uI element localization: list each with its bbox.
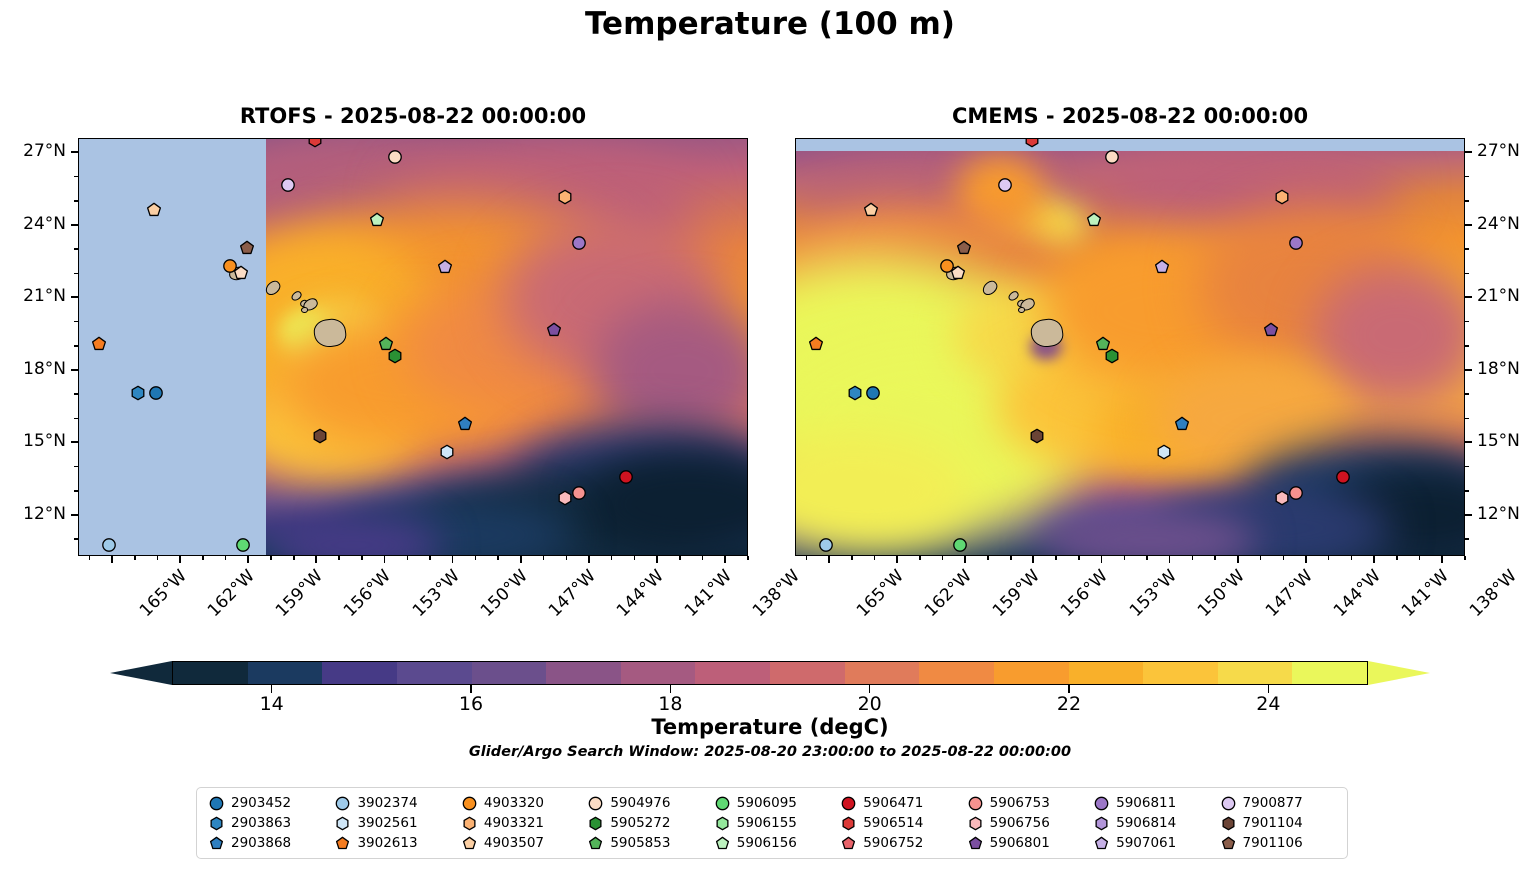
legend-item[interactable]: 5906811 bbox=[1088, 795, 1214, 811]
legend-item-label: 3902374 bbox=[357, 795, 417, 811]
y-tick-minor bbox=[74, 466, 78, 468]
float-marker[interactable] bbox=[387, 150, 402, 165]
y-tick bbox=[71, 224, 78, 226]
y-tick bbox=[1465, 514, 1472, 516]
colorbar-band bbox=[397, 662, 472, 684]
legend-marker-icon bbox=[1094, 836, 1109, 851]
x-tick-minor bbox=[475, 556, 477, 560]
legend-item-label: 5907061 bbox=[1116, 835, 1176, 851]
legend-item-label: 4903321 bbox=[484, 815, 544, 831]
colorbar-tick-label: 20 bbox=[840, 693, 900, 715]
x-axis-label: 147°W bbox=[1262, 566, 1317, 621]
x-tick-minor bbox=[293, 556, 295, 560]
float-marker[interactable] bbox=[997, 177, 1012, 192]
legend-item[interactable]: 2903452 bbox=[203, 795, 329, 811]
temperature-field-cmems bbox=[796, 139, 1464, 555]
x-tick-minor bbox=[1124, 556, 1126, 560]
y-tick-minor bbox=[74, 393, 78, 395]
legend-marker-icon bbox=[335, 816, 350, 831]
x-tick bbox=[1032, 556, 1034, 563]
x-tick-minor bbox=[874, 556, 876, 560]
x-tick bbox=[896, 556, 898, 563]
x-axis-label: 150°W bbox=[477, 566, 532, 621]
island-kahoolawe bbox=[1018, 307, 1025, 313]
legend-marker-icon bbox=[588, 836, 603, 851]
x-axis-label: 138°W bbox=[1466, 566, 1521, 621]
colorbar-band bbox=[994, 662, 1069, 684]
x-tick-minor bbox=[919, 556, 921, 560]
float-marker[interactable] bbox=[1104, 150, 1119, 165]
float-marker[interactable] bbox=[950, 265, 966, 281]
legend-marker-icon bbox=[968, 796, 983, 811]
legend-marker-icon bbox=[841, 836, 856, 851]
legend-item[interactable]: 5906471 bbox=[835, 795, 961, 811]
x-tick-minor bbox=[429, 556, 431, 560]
legend-item[interactable]: 5906752 bbox=[835, 835, 961, 851]
legend-marker-icon bbox=[335, 796, 350, 811]
y-tick-minor bbox=[1465, 345, 1469, 347]
x-tick-minor bbox=[611, 556, 613, 560]
x-tick-minor bbox=[225, 556, 227, 560]
x-tick-minor bbox=[566, 556, 568, 560]
float-marker[interactable] bbox=[1174, 416, 1190, 432]
x-tick bbox=[964, 556, 966, 563]
legend-grid: 2903452390237449033205904976590609559064… bbox=[203, 793, 1341, 853]
y-axis-label: 27°N bbox=[4, 141, 66, 161]
y-axis-label: 15°N bbox=[4, 431, 66, 451]
x-tick bbox=[1305, 556, 1307, 563]
legend-item-label: 2903863 bbox=[231, 815, 291, 831]
legend-item-label: 4903507 bbox=[484, 835, 544, 851]
y-tick bbox=[1465, 441, 1472, 443]
x-tick-minor bbox=[89, 556, 91, 560]
y-tick-minor bbox=[1465, 466, 1469, 468]
colorbar-band bbox=[173, 662, 248, 684]
legend-item[interactable]: 5907061 bbox=[1088, 835, 1214, 851]
x-axis-label: 162°W bbox=[204, 566, 259, 621]
legend-item-label: 5906811 bbox=[1116, 795, 1176, 811]
colorbar-tick-label: 18 bbox=[640, 693, 700, 715]
x-tick-minor bbox=[543, 556, 545, 560]
legend-item[interactable]: 5905853 bbox=[582, 835, 708, 851]
float-marker[interactable] bbox=[280, 177, 295, 192]
float-marker[interactable] bbox=[130, 385, 146, 401]
x-tick-minor bbox=[1078, 556, 1080, 560]
x-axis-label: 159°W bbox=[272, 566, 327, 621]
legend-item[interactable]: 5906801 bbox=[962, 835, 1088, 851]
y-tick bbox=[1465, 224, 1472, 226]
float-marker[interactable] bbox=[437, 259, 453, 275]
float-marker[interactable] bbox=[1288, 235, 1303, 250]
map-panel-cmems[interactable] bbox=[795, 138, 1465, 556]
legend-item-label: 5904976 bbox=[610, 795, 670, 811]
legend-marker-icon bbox=[715, 836, 730, 851]
float-marker[interactable] bbox=[91, 336, 107, 352]
panel-title-cmems: CMEMS - 2025-08-22 00:00:00 bbox=[795, 104, 1465, 128]
float-marker[interactable] bbox=[101, 537, 116, 552]
legend-item-label: 4903320 bbox=[484, 795, 544, 811]
x-axis-label: 159°W bbox=[989, 566, 1044, 621]
no-data-mask-cmems bbox=[796, 139, 1465, 151]
x-tick bbox=[1441, 556, 1443, 563]
float-marker[interactable] bbox=[1154, 259, 1170, 275]
legend-item[interactable]: 5906814 bbox=[1088, 815, 1214, 831]
float-marker[interactable] bbox=[146, 202, 162, 218]
legend-item-label: 5906814 bbox=[1116, 815, 1176, 831]
x-tick-minor bbox=[1146, 556, 1148, 560]
y-axis-label: 21°N bbox=[1477, 286, 1539, 306]
x-tick bbox=[1373, 556, 1375, 563]
legend-marker-icon bbox=[1221, 816, 1236, 831]
colorbar-tick bbox=[869, 685, 871, 693]
legend-marker-icon bbox=[841, 796, 856, 811]
x-tick-minor bbox=[1214, 556, 1216, 560]
page-title: Temperature (100 m) bbox=[0, 6, 1540, 42]
colorbar-tick-label: 22 bbox=[1039, 693, 1099, 715]
x-tick-minor bbox=[1328, 556, 1330, 560]
x-axis-label: 153°W bbox=[1126, 566, 1181, 621]
x-tick-minor bbox=[134, 556, 136, 560]
legend-item-label: 5906156 bbox=[737, 835, 797, 851]
float-marker[interactable] bbox=[1104, 348, 1120, 364]
y-tick-minor bbox=[1465, 248, 1469, 250]
legend-marker-icon bbox=[968, 836, 983, 851]
float-marker[interactable] bbox=[307, 138, 323, 148]
x-tick-minor bbox=[1396, 556, 1398, 560]
colorbar-band bbox=[1218, 662, 1293, 684]
x-tick-minor bbox=[942, 556, 944, 560]
legend-item[interactable]: 4903507 bbox=[456, 835, 582, 851]
x-axis-label: 147°W bbox=[545, 566, 600, 621]
legend-item-label: 5906155 bbox=[737, 815, 797, 831]
legend-marker-icon bbox=[715, 816, 730, 831]
float-marker[interactable] bbox=[571, 235, 586, 250]
legend-item-label: 3902613 bbox=[357, 835, 417, 851]
float-marker[interactable] bbox=[571, 485, 586, 500]
y-axis-label: 18°N bbox=[4, 359, 66, 379]
x-tick-minor bbox=[1419, 556, 1421, 560]
float-marker[interactable] bbox=[952, 537, 967, 552]
x-tick-minor bbox=[747, 556, 749, 560]
x-tick-minor bbox=[497, 556, 499, 560]
colorbar-gradient bbox=[172, 661, 1368, 685]
colorbar-label: Temperature (degC) bbox=[0, 715, 1540, 739]
x-tick bbox=[1101, 556, 1103, 563]
y-tick-minor bbox=[74, 321, 78, 323]
y-axis-label: 21°N bbox=[4, 286, 66, 306]
x-tick-minor bbox=[702, 556, 704, 560]
legend-item-label: 2903868 bbox=[231, 835, 291, 851]
y-tick-minor bbox=[74, 176, 78, 178]
x-tick bbox=[384, 556, 386, 563]
legend-item[interactable]: 5906155 bbox=[709, 815, 835, 831]
legend-item[interactable]: 5904976 bbox=[582, 795, 708, 811]
float-marker[interactable] bbox=[546, 322, 562, 338]
legend-item-label: 5906514 bbox=[863, 815, 923, 831]
float-legend: 2903452390237449033205904976590609559064… bbox=[196, 787, 1348, 859]
x-axis-label: 156°W bbox=[340, 566, 395, 621]
legend-item[interactable]: 7901106 bbox=[1215, 835, 1341, 851]
float-marker[interactable] bbox=[863, 202, 879, 218]
y-tick-minor bbox=[1465, 490, 1469, 492]
float-marker[interactable] bbox=[457, 416, 473, 432]
x-tick-minor bbox=[361, 556, 363, 560]
y-tick-minor bbox=[1465, 176, 1469, 178]
x-tick bbox=[828, 556, 830, 563]
legend-marker-icon bbox=[209, 816, 224, 831]
float-marker[interactable] bbox=[1274, 189, 1290, 205]
x-tick-minor bbox=[1464, 556, 1466, 560]
legend-marker-icon bbox=[1094, 796, 1109, 811]
colorbar: 141618202224 bbox=[110, 659, 1430, 687]
float-marker[interactable] bbox=[149, 385, 164, 400]
y-tick bbox=[71, 514, 78, 516]
legend-marker-icon bbox=[1221, 836, 1236, 851]
panel-title-rtofs: RTOFS - 2025-08-22 00:00:00 bbox=[78, 104, 748, 128]
y-tick bbox=[71, 296, 78, 298]
x-tick-minor bbox=[1055, 556, 1057, 560]
legend-item-label: 5906756 bbox=[990, 815, 1050, 831]
legend-item[interactable]: 5906095 bbox=[709, 795, 835, 811]
y-tick-minor bbox=[1465, 393, 1469, 395]
legend-item-label: 5906801 bbox=[990, 835, 1050, 851]
legend-item-label: 5906752 bbox=[863, 835, 923, 851]
x-tick bbox=[452, 556, 454, 563]
legend-marker-icon bbox=[968, 816, 983, 831]
x-tick bbox=[179, 556, 181, 563]
x-tick-minor bbox=[1192, 556, 1194, 560]
legend-marker-icon bbox=[462, 816, 477, 831]
legend-item[interactable]: 5906753 bbox=[962, 795, 1088, 811]
x-tick-minor bbox=[157, 556, 159, 560]
legend-marker-icon bbox=[209, 836, 224, 851]
colorbar-max-arrow bbox=[1368, 661, 1430, 685]
colorbar-band bbox=[546, 662, 621, 684]
float-marker[interactable] bbox=[239, 240, 255, 256]
legend-item-label: 5905853 bbox=[610, 835, 670, 851]
y-tick bbox=[71, 441, 78, 443]
y-axis-label: 24°N bbox=[4, 214, 66, 234]
y-axis-label: 12°N bbox=[1477, 504, 1539, 524]
y-axis-label: 15°N bbox=[1477, 431, 1539, 451]
x-axis-label: 138°W bbox=[749, 566, 804, 621]
y-axis-label: 24°N bbox=[1477, 214, 1539, 234]
float-marker[interactable] bbox=[1086, 212, 1102, 228]
legend-marker-icon bbox=[715, 796, 730, 811]
x-axis-label: 165°W bbox=[136, 566, 191, 621]
x-tick bbox=[315, 556, 317, 563]
legend-item[interactable]: 4903321 bbox=[456, 815, 582, 831]
legend-marker-icon bbox=[462, 796, 477, 811]
x-tick-minor bbox=[987, 556, 989, 560]
float-marker[interactable] bbox=[866, 385, 881, 400]
y-tick-minor bbox=[74, 345, 78, 347]
colorbar-band bbox=[919, 662, 994, 684]
y-tick bbox=[71, 369, 78, 371]
colorbar-tick-label: 16 bbox=[441, 693, 501, 715]
legend-item-label: 7900877 bbox=[1243, 795, 1303, 811]
y-tick-minor bbox=[74, 490, 78, 492]
float-marker[interactable] bbox=[1288, 485, 1303, 500]
colorbar-band bbox=[248, 662, 323, 684]
x-axis-label: 162°W bbox=[921, 566, 976, 621]
legend-marker-icon bbox=[462, 836, 477, 851]
legend-marker-icon bbox=[588, 816, 603, 831]
legend-item-label: 3902561 bbox=[357, 815, 417, 831]
colorbar-band bbox=[1069, 662, 1144, 684]
y-tick-minor bbox=[74, 273, 78, 275]
colorbar-band bbox=[621, 662, 696, 684]
island-kahoolawe bbox=[301, 307, 308, 313]
colorbar-band bbox=[1292, 662, 1367, 684]
x-tick bbox=[247, 556, 249, 563]
y-axis-label: 27°N bbox=[1477, 141, 1539, 161]
x-tick-minor bbox=[338, 556, 340, 560]
x-tick bbox=[656, 556, 658, 563]
legend-item[interactable]: 3902561 bbox=[329, 815, 455, 831]
x-axis-label: 156°W bbox=[1057, 566, 1112, 621]
x-axis-label: 144°W bbox=[1330, 566, 1385, 621]
legend-item[interactable]: 5906514 bbox=[835, 815, 961, 831]
colorbar-band bbox=[695, 662, 770, 684]
legend-marker-icon bbox=[1094, 816, 1109, 831]
y-tick-minor bbox=[1465, 273, 1469, 275]
x-tick-minor bbox=[202, 556, 204, 560]
float-marker[interactable] bbox=[1156, 444, 1172, 460]
y-axis-label: 18°N bbox=[1477, 359, 1539, 379]
legend-item-label: 2903452 bbox=[231, 795, 291, 811]
x-axis-label: 153°W bbox=[409, 566, 464, 621]
y-tick-minor bbox=[74, 248, 78, 250]
colorbar-tick bbox=[670, 685, 672, 693]
x-tick-minor bbox=[851, 556, 853, 560]
y-tick-minor bbox=[74, 418, 78, 420]
float-marker[interactable] bbox=[439, 444, 455, 460]
x-tick-minor bbox=[1260, 556, 1262, 560]
float-marker[interactable] bbox=[1336, 470, 1351, 485]
x-tick-minor bbox=[1010, 556, 1012, 560]
float-marker[interactable] bbox=[1024, 138, 1040, 148]
x-tick-minor bbox=[1283, 556, 1285, 560]
float-marker[interactable] bbox=[235, 537, 250, 552]
legend-item[interactable]: 4903320 bbox=[456, 795, 582, 811]
colorbar-band bbox=[845, 662, 920, 684]
x-tick-minor bbox=[1351, 556, 1353, 560]
x-tick bbox=[520, 556, 522, 563]
y-tick-minor bbox=[74, 200, 78, 202]
legend-item-label: 7901106 bbox=[1243, 835, 1303, 851]
x-axis-label: 165°W bbox=[853, 566, 908, 621]
legend-item[interactable]: 7900877 bbox=[1215, 795, 1341, 811]
legend-item[interactable]: 5906756 bbox=[962, 815, 1088, 831]
legend-item[interactable]: 2903863 bbox=[203, 815, 329, 831]
legend-item[interactable]: 3902613 bbox=[329, 835, 455, 851]
y-tick bbox=[1465, 369, 1472, 371]
float-marker[interactable] bbox=[233, 265, 249, 281]
y-tick-minor bbox=[1465, 321, 1469, 323]
legend-item[interactable]: 3902374 bbox=[329, 795, 455, 811]
x-axis-label: 144°W bbox=[613, 566, 668, 621]
float-marker[interactable] bbox=[387, 348, 403, 364]
x-tick-minor bbox=[634, 556, 636, 560]
x-tick-minor bbox=[679, 556, 681, 560]
float-marker[interactable] bbox=[369, 212, 385, 228]
search-window-caption: Glider/Argo Search Window: 2025-08-20 23… bbox=[0, 744, 1540, 760]
legend-item-label: 5905272 bbox=[610, 815, 670, 831]
legend-item[interactable]: 5906156 bbox=[709, 835, 835, 851]
y-tick-minor bbox=[74, 538, 78, 540]
legend-item-label: 5906753 bbox=[990, 795, 1050, 811]
float-marker[interactable] bbox=[312, 428, 328, 444]
colorbar-band bbox=[322, 662, 397, 684]
legend-item[interactable]: 5905272 bbox=[582, 815, 708, 831]
y-tick-minor bbox=[1465, 538, 1469, 540]
y-tick-minor bbox=[1465, 418, 1469, 420]
temperature-field-rtofs bbox=[79, 139, 747, 555]
x-tick-minor bbox=[407, 556, 409, 560]
colorbar-tick bbox=[271, 685, 273, 693]
float-marker[interactable] bbox=[847, 385, 863, 401]
float-marker[interactable] bbox=[619, 470, 634, 485]
float-marker[interactable] bbox=[956, 240, 972, 256]
colorbar-min-arrow bbox=[110, 661, 172, 685]
x-axis-label: 150°W bbox=[1194, 566, 1249, 621]
float-marker[interactable] bbox=[818, 537, 833, 552]
colorbar-tick-label: 24 bbox=[1238, 693, 1298, 715]
legend-item-label: 5906095 bbox=[737, 795, 797, 811]
legend-marker-icon bbox=[1221, 796, 1236, 811]
map-panel-rtofs[interactable] bbox=[78, 138, 748, 556]
colorbar-tick bbox=[1068, 685, 1070, 693]
colorbar-band bbox=[1143, 662, 1218, 684]
y-tick bbox=[1465, 151, 1472, 153]
legend-marker-icon bbox=[841, 816, 856, 831]
float-marker[interactable] bbox=[1029, 428, 1045, 444]
x-tick bbox=[588, 556, 590, 563]
x-tick bbox=[111, 556, 113, 563]
colorbar-tick bbox=[1268, 685, 1270, 693]
float-marker[interactable] bbox=[1263, 322, 1279, 338]
legend-item-label: 5906471 bbox=[863, 795, 923, 811]
legend-marker-icon bbox=[588, 796, 603, 811]
x-tick-minor bbox=[270, 556, 272, 560]
legend-item[interactable]: 2903868 bbox=[203, 835, 329, 851]
y-tick bbox=[1465, 296, 1472, 298]
colorbar-tick bbox=[470, 685, 472, 693]
y-tick-minor bbox=[1465, 200, 1469, 202]
colorbar-band bbox=[472, 662, 547, 684]
x-tick bbox=[724, 556, 726, 563]
legend-item[interactable]: 7901104 bbox=[1215, 815, 1341, 831]
y-tick bbox=[71, 151, 78, 153]
legend-item-label: 7901104 bbox=[1243, 815, 1303, 831]
colorbar-band bbox=[770, 662, 845, 684]
float-marker[interactable] bbox=[808, 336, 824, 352]
x-axis-label: 141°W bbox=[1398, 566, 1453, 621]
float-marker[interactable] bbox=[557, 189, 573, 205]
colorbar-tick-label: 14 bbox=[242, 693, 302, 715]
x-axis-label: 141°W bbox=[681, 566, 736, 621]
legend-marker-icon bbox=[335, 836, 350, 851]
legend-marker-icon bbox=[209, 796, 224, 811]
figure-root: Temperature (100 m) RTOFS - 2025-08-22 0… bbox=[0, 0, 1540, 889]
y-axis-label: 12°N bbox=[4, 504, 66, 524]
x-tick bbox=[1237, 556, 1239, 563]
x-tick bbox=[1169, 556, 1171, 563]
x-tick-minor bbox=[806, 556, 808, 560]
